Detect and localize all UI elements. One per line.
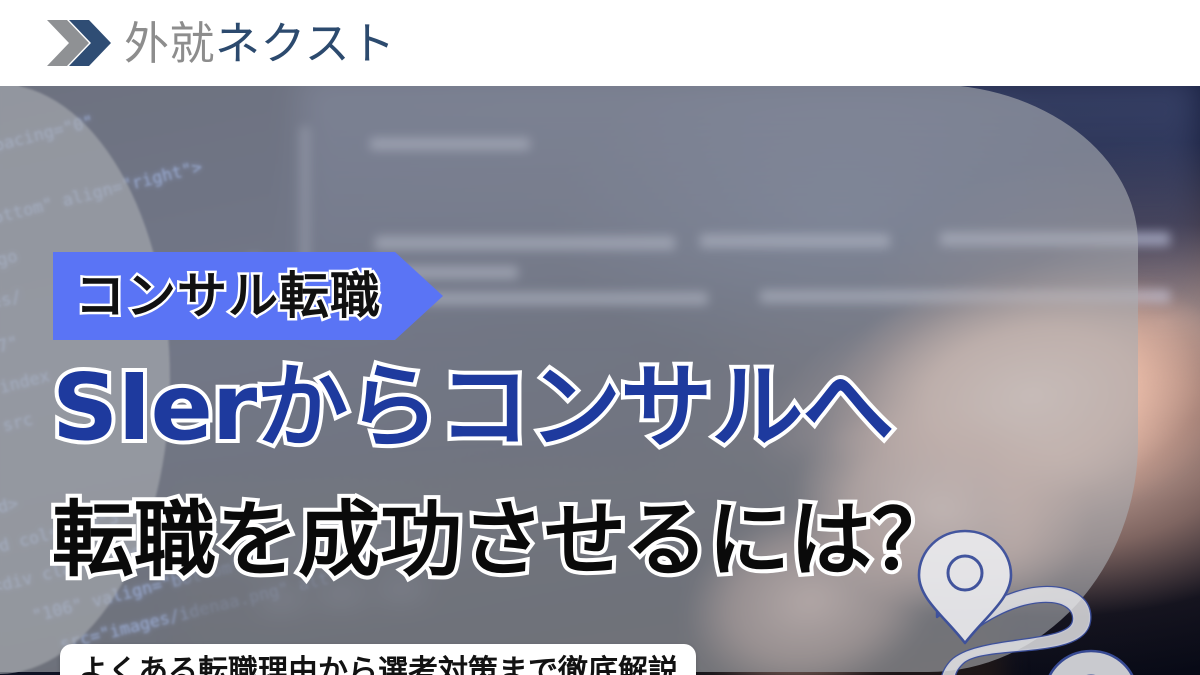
category-badge-arrow-tip	[395, 252, 443, 340]
logo-wordmark: 外就ネクスト	[124, 21, 396, 66]
hero-banner: 423" cellspacing="0" > valign="bottom" a…	[0, 86, 1200, 675]
site-logo[interactable]: 外就ネクスト	[47, 20, 396, 66]
logo-wordmark-secondary: ネクスト	[215, 17, 396, 70]
category-badge-label: コンサル転職	[75, 271, 381, 321]
logo-wordmark-primary: 外就	[124, 17, 215, 70]
winding-road-with-map-pins-icon	[915, 511, 1165, 675]
category-badge-body: コンサル転職	[53, 252, 395, 340]
double-chevron-icon	[47, 20, 111, 66]
site-header: 外就ネクスト	[0, 0, 1200, 86]
hero-title-line-1: SIerからコンサルへ	[52, 362, 893, 454]
category-badge: コンサル転職	[53, 252, 443, 340]
hero-subtitle-text: よくある転職理由から選考対策まで徹底解説	[78, 657, 678, 675]
hero-title-line-2: 転職を成功させるには？	[52, 500, 954, 582]
hero-subtitle-pill: よくある転職理由から選考対策まで徹底解説	[60, 644, 696, 675]
page-root: 外就ネクスト 423" cellspacing="0" > valign="bo…	[0, 0, 1200, 675]
